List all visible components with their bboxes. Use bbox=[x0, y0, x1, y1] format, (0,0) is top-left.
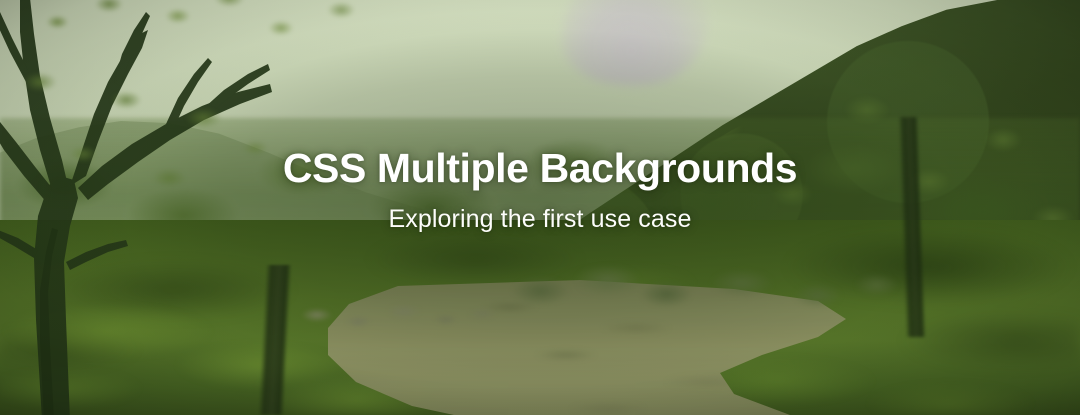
hero-text-block: CSS Multiple Backgrounds Exploring the f… bbox=[0, 146, 1080, 234]
tree-canopy-leaves bbox=[0, 0, 410, 280]
path-side-rocks bbox=[280, 287, 510, 343]
page-subtitle: Exploring the first use case bbox=[0, 204, 1080, 234]
page-title: CSS Multiple Backgrounds bbox=[0, 146, 1080, 190]
hero-banner: CSS Multiple Backgrounds Exploring the f… bbox=[0, 0, 1080, 415]
mid-ground-bushes bbox=[490, 247, 910, 323]
hazy-ridge-shape bbox=[552, 0, 719, 97]
